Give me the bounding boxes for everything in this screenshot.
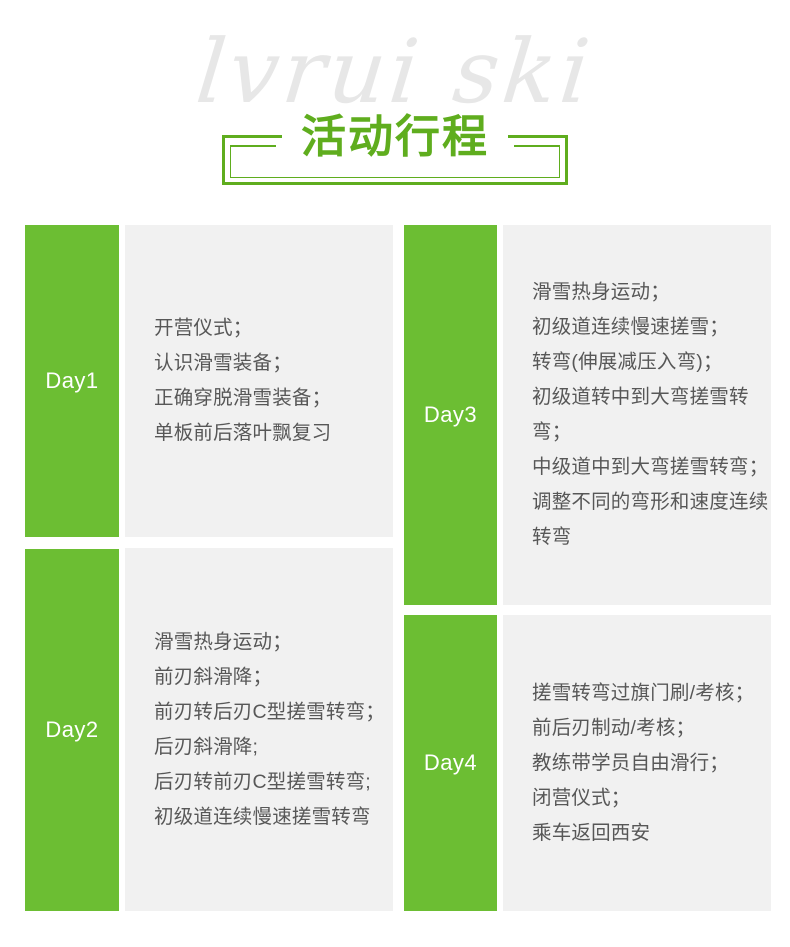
schedule-grid: Day1 开营仪式； 认识滑雪装备； 正确穿脱滑雪装备； 单板前后落叶飘复习 D… [0,0,790,947]
day-content-panel-2: 滑雪热身运动； 前刃斜滑降； 前刃转后刃C型搓雪转弯； 后刃斜滑降; 后刃转前刃… [125,548,393,911]
itinerary-poster: lvrui ski 活动行程 Day1 开营仪式； 认识滑雪装备； 正确穿脱滑雪… [0,0,790,947]
day-content-text: 滑雪热身运动； 初级道连续慢速搓雪； 转弯(伸展减压入弯)； 初级道转中到大弯搓… [532,275,771,555]
day-label-text: Day1 [45,368,98,394]
day-content-panel-3: 滑雪热身运动； 初级道连续慢速搓雪； 转弯(伸展减压入弯)； 初级道转中到大弯搓… [503,225,771,605]
day-content-text: 滑雪热身运动； 前刃斜滑降； 前刃转后刃C型搓雪转弯； 后刃斜滑降; 后刃转前刃… [154,625,385,835]
day-content-panel-4: 搓雪转弯过旗门刷/考核； 前后刃制动/考核； 教练带学员自由滑行； 闭营仪式； … [503,615,771,911]
day-label-text: Day2 [45,717,98,743]
day-label-tab-3: Day3 [404,225,497,605]
day-label-text: Day3 [424,402,477,428]
day-label-tab-1: Day1 [25,225,119,537]
day-label-text: Day4 [424,750,477,776]
day-content-text: 搓雪转弯过旗门刷/考核； 前后刃制动/考核； 教练带学员自由滑行； 闭营仪式； … [532,676,754,851]
day-label-tab-4: Day4 [404,615,497,911]
day-content-text: 开营仪式； 认识滑雪装备； 正确穿脱滑雪装备； 单板前后落叶飘复习 [154,311,331,451]
day-content-panel-1: 开营仪式； 认识滑雪装备； 正确穿脱滑雪装备； 单板前后落叶飘复习 [125,225,393,537]
day-label-tab-2: Day2 [25,549,119,911]
